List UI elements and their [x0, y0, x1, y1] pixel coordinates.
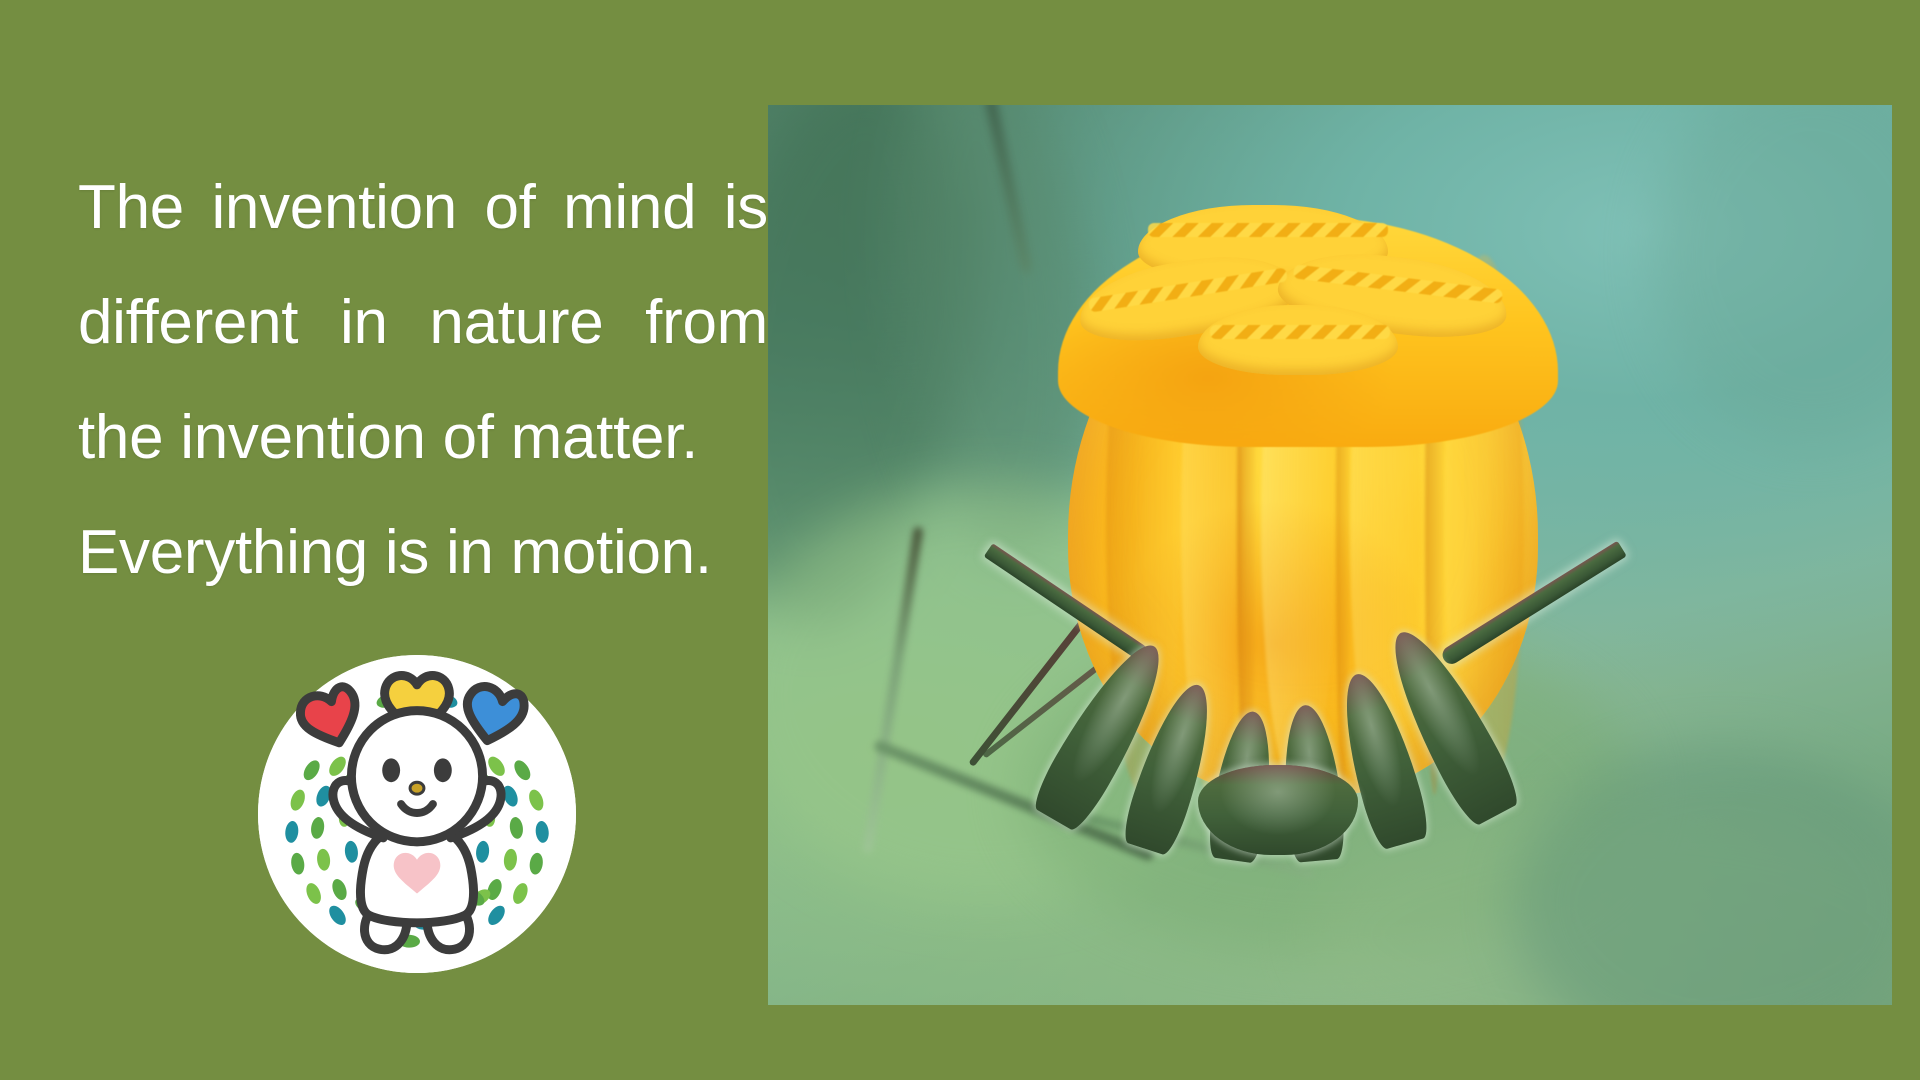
quote-text: Theinventionofmindis differentinnaturefr…	[78, 150, 768, 610]
crown-serration	[1148, 223, 1388, 237]
quote-line-3: the invention of matter.	[78, 380, 768, 495]
quote-line-2: differentinnaturefrom	[78, 265, 768, 380]
slide-canvas: Theinventionofmindis differentinnaturefr…	[0, 0, 1920, 1080]
quote-line-4-text: Everything is in motion.	[78, 518, 712, 587]
quote-word: nature	[429, 265, 603, 380]
flower-photo	[768, 105, 1892, 1005]
crown-ruffle	[1198, 305, 1398, 375]
mascot-eye-right	[434, 758, 452, 782]
mascot-eye-left	[382, 758, 400, 782]
quote-word: in	[340, 265, 388, 380]
mascot-logo[interactable]	[258, 655, 576, 973]
marigold-bud	[948, 165, 1648, 925]
quote-word: different	[78, 265, 298, 380]
mascot-nose	[410, 782, 424, 794]
quote-line-1: Theinventionofmindis	[78, 150, 768, 265]
quote-line-4: Everything is in motion.	[78, 495, 768, 610]
mascot-head	[351, 711, 482, 842]
quote-word: is	[724, 150, 768, 265]
quote-line-3-text: the invention of matter.	[78, 403, 698, 472]
quote-word: mind	[563, 150, 696, 265]
mascot-logo-graphic	[258, 655, 576, 973]
quote-word: The	[78, 150, 184, 265]
quote-word: from	[645, 265, 768, 380]
crown-serration	[1210, 325, 1390, 339]
quote-word: of	[484, 150, 535, 265]
quote-word: invention	[211, 150, 456, 265]
